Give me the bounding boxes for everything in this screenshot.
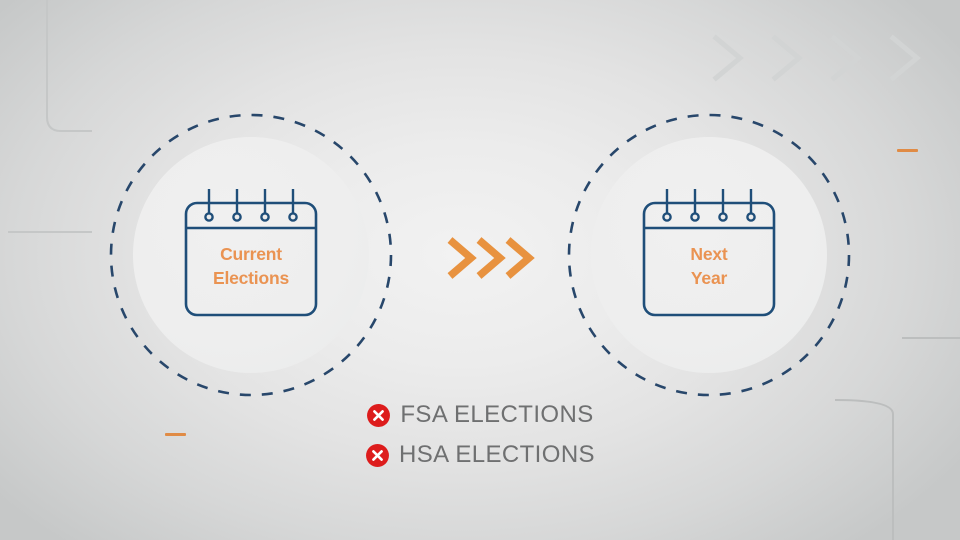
calendar-label-current-line1: Current <box>220 244 282 264</box>
chevron-2 <box>479 240 500 276</box>
chevron-1 <box>450 240 471 276</box>
red-x-circle-icon <box>365 443 390 468</box>
list-item: HSA ELECTIONS <box>365 440 595 470</box>
calendar-label-next-year-line1: Next <box>690 244 727 264</box>
excluded-elections-list: FSA ELECTIONS HSA ELECTIONS <box>0 400 960 470</box>
calendar-label-current: Current Elections <box>176 242 326 290</box>
calendar-label-next-year: Next Year <box>634 242 784 290</box>
calendar-icon-current: Current Elections <box>176 180 326 330</box>
transition-arrow <box>443 228 543 288</box>
calendar-icon-next-year: Next Year <box>634 180 784 330</box>
calendar-label-current-line2: Elections <box>213 268 289 288</box>
chevron-3 <box>508 240 529 276</box>
slide-canvas: Current Elections <box>0 0 960 540</box>
list-item-label-hsa: HSA ELECTIONS <box>399 441 595 469</box>
red-x-circle-icon <box>366 403 391 428</box>
calendar-label-next-year-line2: Year <box>691 268 727 288</box>
list-item-label-fsa: FSA ELECTIONS <box>400 401 593 429</box>
next-year-group: Next Year <box>566 112 852 398</box>
decor-chevrons-topright <box>716 38 917 78</box>
list-item: FSA ELECTIONS <box>366 400 593 430</box>
decor-corner-line-topleft <box>47 0 92 131</box>
decor-orange-dash-right <box>897 149 918 152</box>
current-elections-group: Current Elections <box>108 112 394 398</box>
